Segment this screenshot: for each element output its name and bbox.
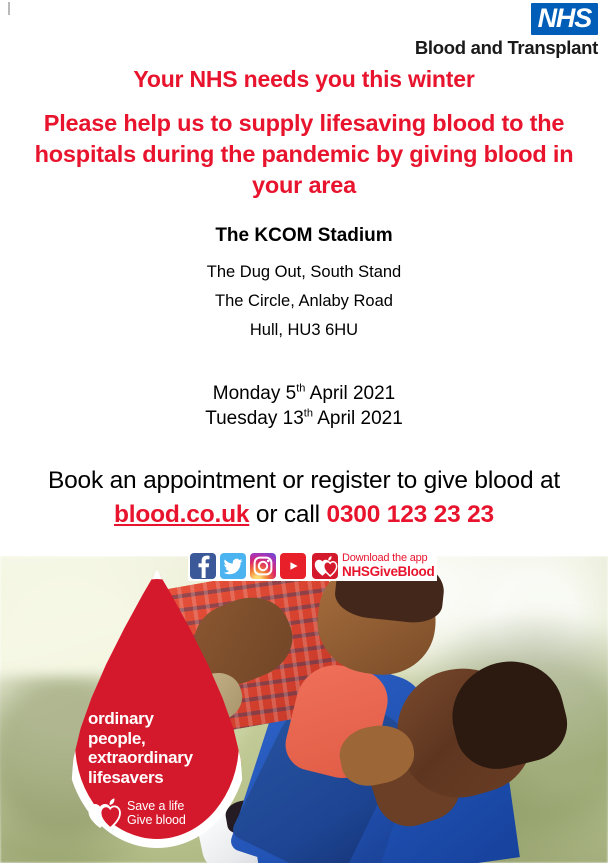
give-blood-logo: Save a life Give blood (88, 798, 240, 828)
slogan-line-3: extraordinary (88, 748, 240, 768)
slogan-line-1: ordinary (88, 709, 240, 729)
facebook-icon[interactable] (190, 553, 216, 579)
blood-drop-content: ordinary people, extraordinary lifesaver… (66, 570, 248, 848)
give-blood-logo-line-1: Save a life (127, 799, 184, 813)
date-1-rest: April 2021 (305, 383, 395, 404)
session-date-2: Tuesday 13th April 2021 (0, 406, 608, 431)
session-date-1: Monday 5th April 2021 (0, 381, 608, 406)
nhs-badge-label: NHS (538, 5, 591, 32)
app-promo-line-1: Download the app (342, 552, 434, 564)
venue-address: The Dug Out, South Stand The Circle, Anl… (0, 258, 608, 345)
instagram-icon[interactable] (250, 553, 276, 579)
give-blood-logo-text: Save a life Give blood (127, 799, 186, 827)
booking-text-middle: or call (249, 501, 326, 528)
venue-address-line-3: Hull, HU3 6HU (0, 316, 608, 345)
social-media-bar: Download the app NHSGiveBlood (188, 550, 437, 581)
date-2-ordinal: th (304, 408, 313, 420)
blood-drop-slogan: ordinary people, extraordinary lifesaver… (88, 709, 240, 787)
nhs-blood-donation-poster: NHS Blood and Transplant Your NHS needs … (0, 0, 608, 863)
date-1-day: Monday 5 (213, 383, 296, 404)
app-promo[interactable]: Download the app NHSGiveBlood (310, 552, 434, 579)
app-promo-text: Download the app NHSGiveBlood (342, 552, 434, 579)
blood-drop-graphic: ordinary people, extraordinary lifesaver… (66, 570, 248, 848)
venue-address-line-2: The Circle, Anlaby Road (0, 287, 608, 316)
booking-text-before: Book an appointment or register to give … (48, 467, 560, 494)
venue-address-line-1: The Dug Out, South Stand (0, 258, 608, 287)
nhs-division-label: Blood and Transplant (415, 38, 598, 58)
nhs-logo: NHS Blood and Transplant (415, 3, 598, 58)
slogan-line-4: lifesavers (88, 768, 240, 788)
give-blood-logo-line-2: Give blood (127, 813, 186, 827)
blood-website-link[interactable]: blood.co.uk (114, 501, 249, 528)
nhs-badge: NHS (531, 3, 598, 35)
venue-name: The KCOM Stadium (0, 224, 608, 248)
headline-secondary: Please help us to supply lifesaving bloo… (24, 108, 584, 201)
booking-call-to-action: Book an appointment or register to give … (14, 464, 594, 532)
date-2-day: Tuesday 13 (205, 408, 304, 429)
youtube-icon[interactable] (280, 553, 306, 579)
nhs-give-blood-app-icon[interactable] (312, 553, 338, 579)
give-blood-hearts-icon (88, 798, 122, 828)
app-promo-line-2: NHSGiveBlood (342, 564, 434, 579)
twitter-icon[interactable] (220, 553, 246, 579)
date-2-rest: April 2021 (313, 408, 403, 429)
text-cursor-artifact (8, 2, 10, 15)
slogan-line-2: people, (88, 729, 240, 749)
session-dates: Monday 5th April 2021 Tuesday 13th April… (0, 381, 608, 431)
headline-primary: Your NHS needs you this winter (0, 66, 608, 92)
booking-phone-number[interactable]: 0300 123 23 23 (326, 501, 494, 528)
